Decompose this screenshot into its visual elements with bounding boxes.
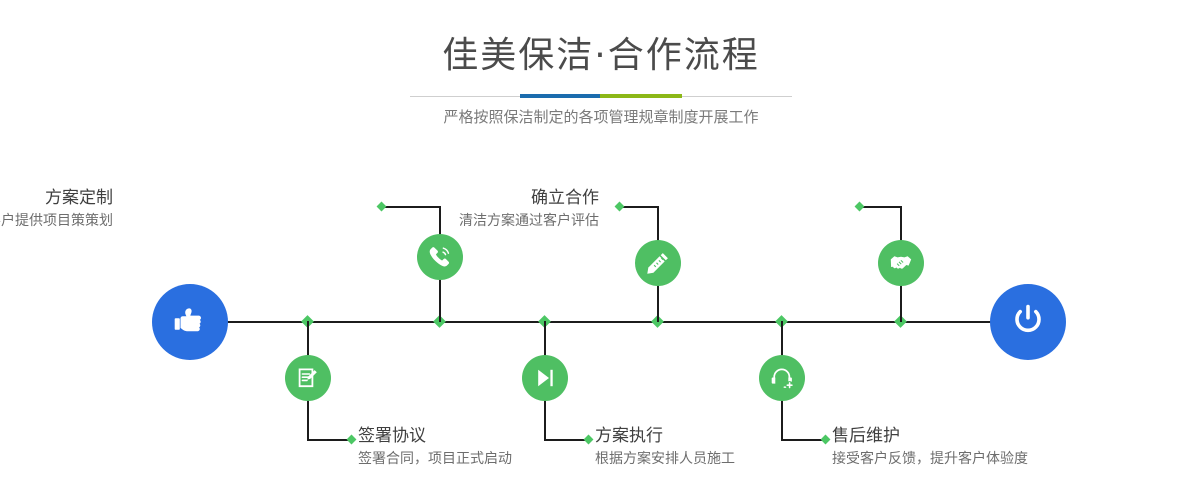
step-label-2: 签署协议 签署合同，项目正式启动 <box>358 424 512 470</box>
label-marker-diamond <box>855 202 865 212</box>
page-title: 佳美保洁·合作流程 <box>0 34 1202 78</box>
connector-horizontal <box>545 439 587 441</box>
label-marker-diamond <box>584 435 594 445</box>
label-marker-diamond <box>821 435 831 445</box>
step-title: 售后维护 <box>832 424 1028 448</box>
step-label-4: 方案执行 根据方案安排人员施工 <box>595 424 735 470</box>
step-icon-headset-support[interactable] <box>759 355 805 401</box>
step-icon-pencil-ruler[interactable] <box>635 240 681 286</box>
contract-sign-icon <box>295 365 321 391</box>
handshake-icon <box>888 250 914 276</box>
step-title: 签署协议 <box>358 424 512 448</box>
play-execute-icon <box>532 365 558 391</box>
flow-diagram-canvas: 佳美保洁·合作流程 严格按照保洁制定的各项管理规章制度开展工作 <box>0 0 1202 502</box>
step-desc: 清洁方案通过客户评估 <box>459 210 599 232</box>
phone-call-icon <box>427 244 453 270</box>
step-desc: 签署合同，项目正式启动 <box>358 448 512 470</box>
timeline-step-4: 方案执行 根据方案安排人员施工 <box>545 0 546 502</box>
step-label-5: 确立合作 清洁方案通过客户评估 <box>459 186 599 232</box>
label-marker-diamond <box>377 202 387 212</box>
page-subtitle: 严格按照保洁制定的各项管理规章制度开展工作 <box>0 106 1202 128</box>
step-icon-contract-sign[interactable] <box>285 355 331 401</box>
power-icon <box>1007 299 1049 346</box>
step-icon-play-execute[interactable] <box>522 355 568 401</box>
title-divider <box>0 94 1202 100</box>
connector-horizontal <box>860 206 902 208</box>
label-marker-diamond <box>615 202 625 212</box>
header: 佳美保洁·合作流程 严格按照保洁制定的各项管理规章制度开展工作 <box>0 34 1202 78</box>
divider-segment-blue <box>520 94 600 98</box>
step-title: 方案执行 <box>595 424 735 448</box>
step-label-3: 方案定制 为客户提供项目策策划 <box>0 186 113 232</box>
pencil-ruler-icon <box>645 250 671 276</box>
connector-horizontal <box>382 206 441 208</box>
divider-segment-green <box>600 94 682 98</box>
headset-support-icon <box>769 365 795 391</box>
step-desc: 根据方案安排人员施工 <box>595 448 735 470</box>
connector-horizontal <box>782 439 824 441</box>
timeline-end-node[interactable] <box>990 284 1066 360</box>
timeline-step-6: 售后维护 接受客户反馈，提升客户体验度 <box>782 0 783 502</box>
step-title: 确立合作 <box>459 186 599 210</box>
timeline-start-node[interactable] <box>152 284 228 360</box>
label-marker-diamond <box>347 435 357 445</box>
step-desc: 为客户提供项目策策划 <box>0 210 113 232</box>
step-icon-phone-call[interactable] <box>417 234 463 280</box>
step-icon-handshake[interactable] <box>878 240 924 286</box>
connector-horizontal <box>620 206 659 208</box>
step-desc: 接受客户反馈，提升客户体验度 <box>832 448 1028 470</box>
timeline-step-2: 签署协议 签署合同，项目正式启动 <box>308 0 309 502</box>
pointing-hand-icon <box>170 300 210 345</box>
connector-horizontal <box>308 439 350 441</box>
step-title: 方案定制 <box>0 186 113 210</box>
step-label-6: 售后维护 接受客户反馈，提升客户体验度 <box>832 424 1028 470</box>
